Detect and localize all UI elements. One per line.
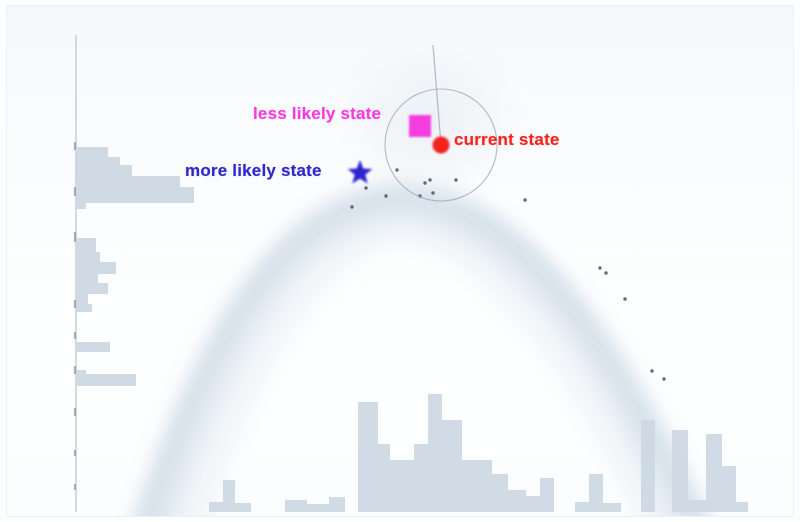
histogram-bar [589, 474, 603, 512]
visualization-root: less likely state current state more lik… [0, 0, 800, 522]
histogram-bar [378, 444, 390, 512]
histogram-bar [722, 466, 736, 512]
scatter-point [428, 178, 431, 181]
scatter-point [523, 198, 526, 201]
histogram-bar [285, 500, 307, 512]
scatter-point [395, 168, 398, 171]
plot-canvas [0, 0, 800, 522]
histogram-bar [462, 460, 492, 512]
histogram-bar [76, 374, 136, 386]
scatter-point [350, 205, 353, 208]
scatter-point [623, 297, 626, 300]
scatter-point [454, 178, 457, 181]
histogram-bar [76, 252, 100, 262]
histogram-bar [223, 480, 235, 512]
histogram-bar [603, 503, 621, 512]
histogram-bar [76, 165, 132, 176]
histogram-bar [736, 502, 748, 512]
histogram-bar [706, 434, 722, 512]
scatter-point [384, 194, 387, 197]
histogram-bar [526, 496, 540, 512]
less-likely-state-marker [409, 115, 431, 137]
scatter-point [431, 191, 434, 194]
more-likely-state-label: more likely state [185, 161, 322, 181]
scatter-point [598, 266, 601, 269]
less-likely-state-label: less likely state [253, 104, 381, 124]
histogram-bar [492, 474, 508, 512]
histogram-bar [76, 262, 116, 274]
histogram-bar [76, 238, 96, 252]
histogram-bar [76, 187, 194, 203]
scatter-point [364, 186, 367, 189]
scatter-point [604, 271, 607, 274]
scatter-point [650, 369, 653, 372]
histogram-bar [358, 402, 378, 512]
histogram-bar [76, 342, 110, 352]
current-state-label: current state [454, 130, 560, 150]
histogram-bar [76, 176, 180, 187]
histogram-bar [428, 394, 442, 512]
histogram-bar [76, 370, 86, 374]
histogram-bar [235, 503, 251, 512]
histogram-bar [76, 304, 92, 312]
histogram-bar [76, 274, 98, 283]
histogram-bar [209, 502, 223, 512]
histogram-bar [76, 294, 88, 304]
histogram-bar [641, 420, 655, 512]
histogram-bar [76, 157, 120, 165]
histogram-bar [76, 283, 108, 294]
histogram-bar [672, 430, 688, 512]
histogram-bar [688, 500, 706, 512]
histogram-bar [76, 203, 86, 209]
scatter-point [423, 181, 426, 184]
histogram-bar [540, 478, 554, 512]
scatter-point [662, 377, 665, 380]
histogram-bar [76, 147, 108, 157]
histogram-bar [442, 420, 462, 512]
histogram-bar [508, 490, 526, 512]
histogram-bar [575, 502, 589, 512]
histogram-bar [414, 444, 428, 512]
current-state-marker [433, 137, 450, 154]
histogram-bar [307, 504, 329, 512]
histogram-bar [390, 460, 414, 512]
histogram-bar [329, 497, 345, 512]
